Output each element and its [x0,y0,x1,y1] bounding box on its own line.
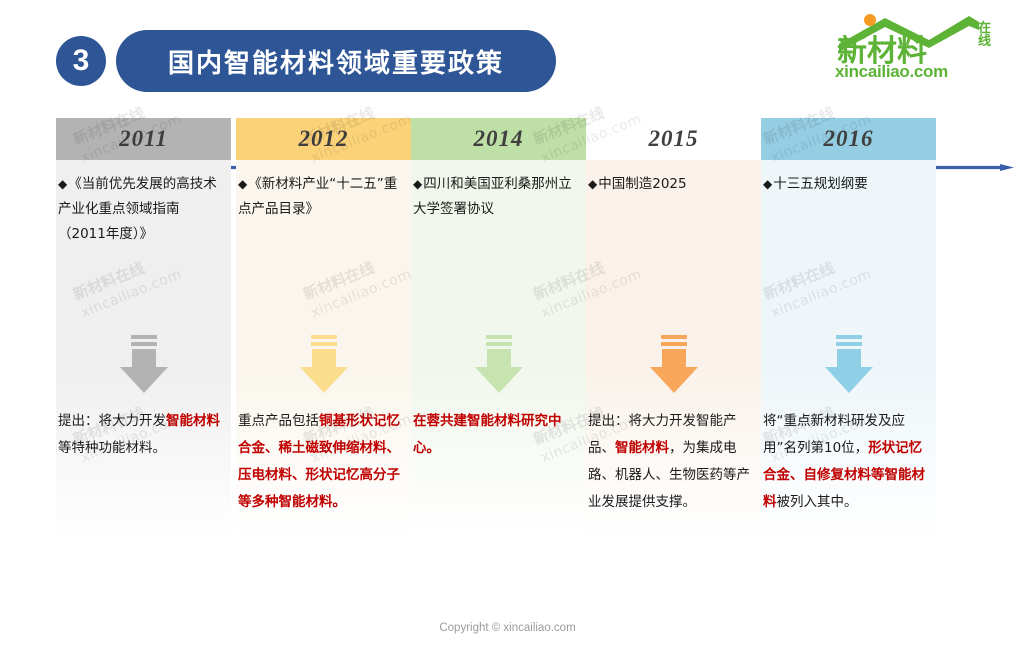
column-body-2015: ◆中国制造2025提出：将大力开发智能产品、智能材料，为集成电路、机器人、生物医… [586,160,761,538]
policy-event-text: 四川和美国亚利桑那州立大学签署协议 [413,176,572,217]
logo-dot-icon [864,14,876,26]
down-arrow-icon-2015 [648,335,700,397]
year-label: 2016 [824,126,874,152]
policy-event-2016: ◆十三五规划纲要 [761,172,936,197]
year-label: 2014 [474,126,524,152]
description-highlight: 在蓉共建智能材料研究中心。 [413,413,562,456]
policy-description-2015: 提出：将大力开发智能产品、智能材料，为集成电路、机器人、生物医药等产业发展提供支… [586,408,761,516]
year-header-2015[interactable]: 2015 [586,118,761,160]
timeline-grid: 2011◆《当前优先发展的高技术产业化重点领域指南（2011年度）》提出：将大力… [56,118,956,538]
year-label: 2011 [119,126,168,152]
diamond-bullet-icon: ◆ [588,177,597,191]
year-label: 2012 [299,126,349,152]
page-title: 国内智能材料领域重要政策 [116,30,556,92]
diamond-bullet-icon: ◆ [58,177,67,191]
down-arrow-icon-2011 [118,335,170,397]
timeline-column-2016: 2016◆十三五规划纲要将“重点新材料研发及应用”名列第10位，形状记忆合金、自… [761,118,936,538]
year-header-2016[interactable]: 2016 [761,118,936,160]
logo-brand-suffix: 在 线 [978,22,991,48]
diamond-bullet-icon: ◆ [763,177,772,191]
logo-url: xincailiao.com [835,62,948,82]
description-text: 被列入其中。 [777,494,858,510]
slide-canvas: 3 国内智能材料领域重要政策 新材料 在 线 xincailiao.com 20… [0,0,1015,654]
description-text: 提出：将大力开发 [58,413,166,429]
description-highlight: 智能材料 [615,440,669,456]
down-arrow-icon-2014 [473,335,525,397]
diamond-bullet-icon: ◆ [238,177,247,191]
column-body-2012: ◆《新材料产业“十二五”重点产品目录》重点产品包括铜基形状记忆合金、稀土磁致伸缩… [236,160,411,538]
timeline-column-2012: 2012◆《新材料产业“十二五”重点产品目录》重点产品包括铜基形状记忆合金、稀土… [236,118,411,538]
policy-event-text: 十三五规划纲要 [773,176,868,192]
year-label: 2015 [649,126,699,152]
description-text: 重点产品包括 [238,413,319,429]
description-text: 等特种功能材料。 [58,440,166,456]
step-number-badge: 3 [56,36,106,86]
policy-event-2015: ◆中国制造2025 [586,172,761,197]
diamond-bullet-icon: ◆ [413,177,422,191]
description-highlight: 智能材料 [166,413,220,429]
policy-description-2016: 将“重点新材料研发及应用”名列第10位，形状记忆合金、自修复材料等智能材料被列入… [761,408,936,516]
logo-suffix-line2: 线 [978,35,991,48]
brand-logo: 新材料 在 线 xincailiao.com [829,10,997,84]
policy-event-text: 《新材料产业“十二五”重点产品目录》 [238,176,397,217]
column-body-2011: ◆《当前优先发展的高技术产业化重点领域指南（2011年度）》提出：将大力开发智能… [56,160,231,538]
footer-copyright: Copyright © xincailiao.com [0,622,1015,634]
down-arrow-icon-2016 [823,335,875,397]
down-arrow-icon-2012 [298,335,350,397]
year-header-2011[interactable]: 2011 [56,118,231,160]
policy-event-2014: ◆四川和美国亚利桑那州立大学签署协议 [411,172,586,222]
policy-event-2012: ◆《新材料产业“十二五”重点产品目录》 [236,172,411,222]
page-title-label: 国内智能材料领域重要政策 [168,43,504,80]
policy-description-2011: 提出：将大力开发智能材料等特种功能材料。 [56,408,231,462]
policy-description-2012: 重点产品包括铜基形状记忆合金、稀土磁致伸缩材料、压电材料、形状记忆高分子等多种智… [236,408,411,516]
policy-event-2011: ◆《当前优先发展的高技术产业化重点领域指南（2011年度）》 [56,172,231,247]
policy-event-text: 《当前优先发展的高技术产业化重点领域指南（2011年度）》 [58,176,217,242]
column-body-2014: ◆四川和美国亚利桑那州立大学签署协议在蓉共建智能材料研究中心。 [411,160,586,538]
timeline-column-2014: 2014◆四川和美国亚利桑那州立大学签署协议在蓉共建智能材料研究中心。 [411,118,586,538]
policy-description-2014: 在蓉共建智能材料研究中心。 [411,408,586,462]
policy-event-text: 中国制造2025 [598,176,686,192]
year-header-2014[interactable]: 2014 [411,118,586,160]
column-body-2016: ◆十三五规划纲要将“重点新材料研发及应用”名列第10位，形状记忆合金、自修复材料… [761,160,936,538]
year-header-2012[interactable]: 2012 [236,118,411,160]
timeline-column-2011: 2011◆《当前优先发展的高技术产业化重点领域指南（2011年度）》提出：将大力… [56,118,231,538]
timeline-column-2015: 2015◆中国制造2025提出：将大力开发智能产品、智能材料，为集成电路、机器人… [586,118,761,538]
